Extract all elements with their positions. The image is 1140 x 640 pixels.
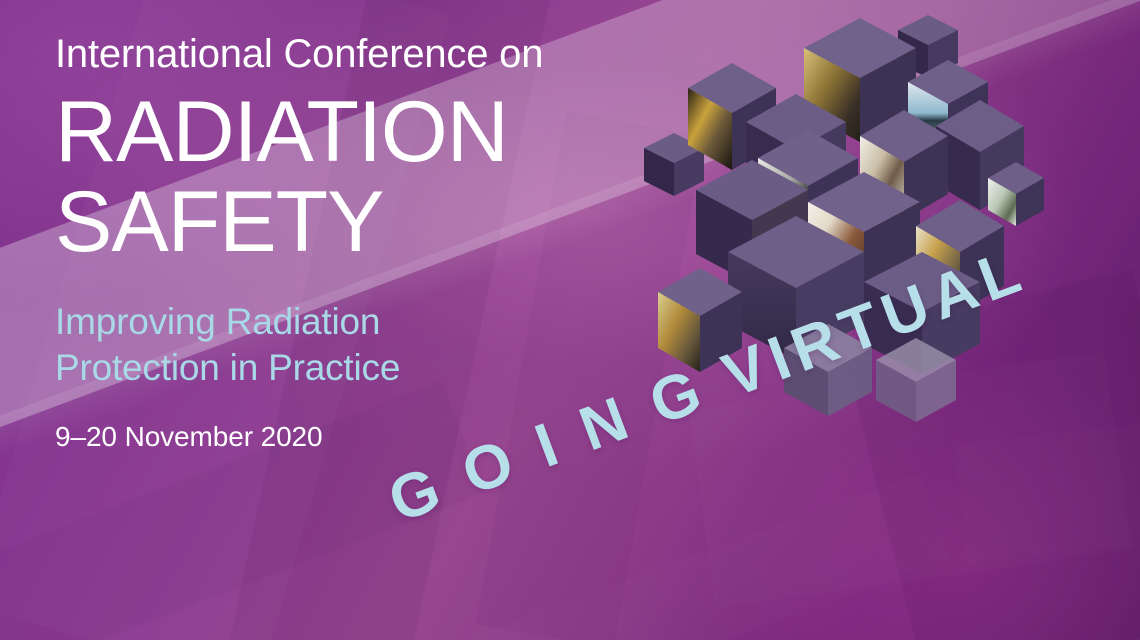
title-line-2: SAFETY	[55, 180, 675, 264]
subtitle-line-2: Protection in Practice	[55, 345, 675, 391]
conference-subtitle: Improving Radiation Protection in Practi…	[55, 299, 675, 392]
page-title: RADIATION SAFETY	[55, 90, 675, 265]
conference-banner: International Conference on RADIATION SA…	[0, 0, 1140, 640]
banner-text-block: International Conference on RADIATION SA…	[55, 34, 675, 453]
conference-kicker: International Conference on	[55, 34, 675, 74]
title-line-1: RADIATION	[55, 84, 508, 180]
subtitle-line-1: Improving Radiation	[55, 299, 675, 345]
